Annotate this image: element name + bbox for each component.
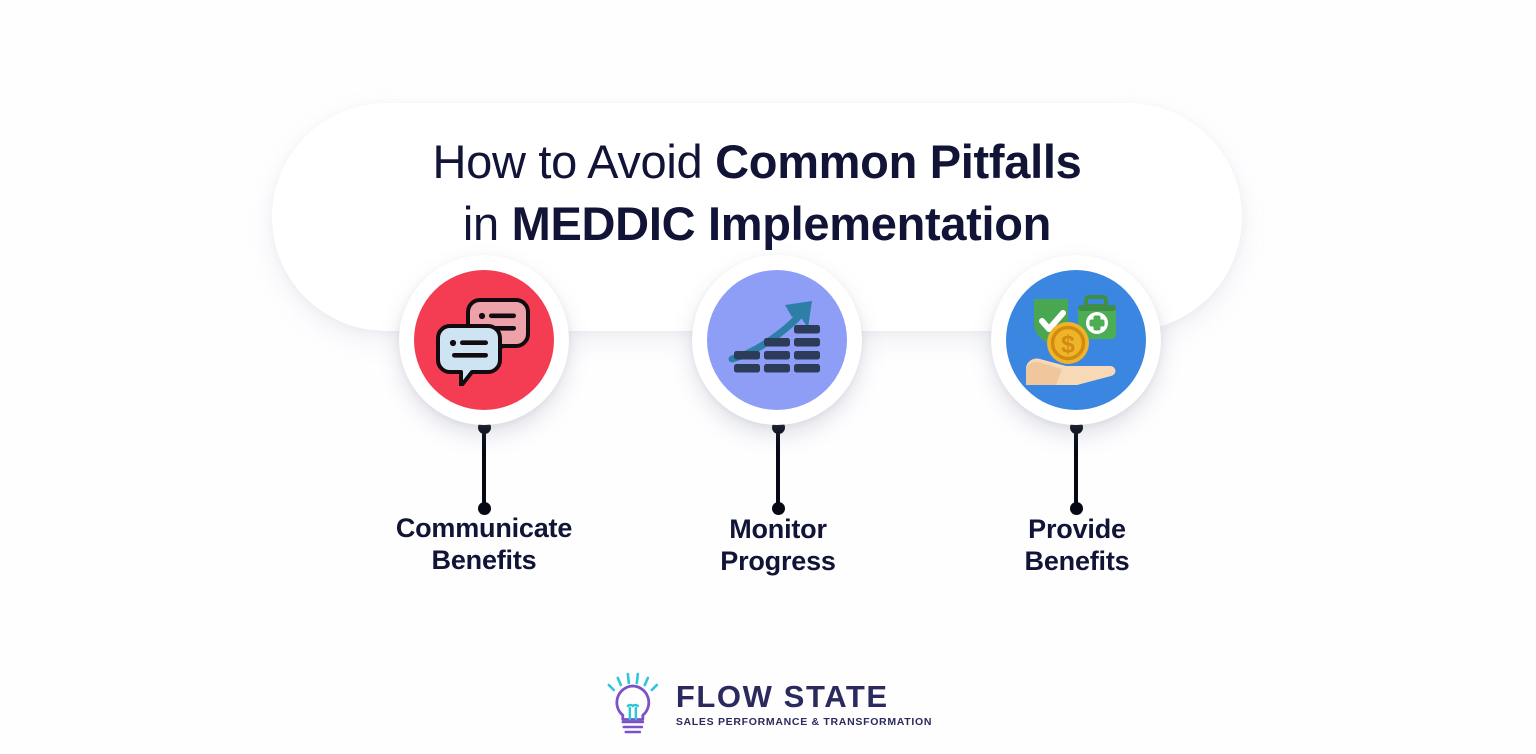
label-line-1: Provide: [937, 513, 1217, 545]
icon-ring-monitor-progress: [692, 255, 862, 425]
title-line2: in MEDDIC Implementation: [272, 193, 1242, 255]
growth-chart-arrow-icon: [728, 295, 826, 385]
node-provide-benefits[interactable]: $: [991, 255, 1161, 425]
node-communicate-benefits[interactable]: [399, 255, 569, 425]
connector-line: [776, 432, 780, 504]
connector-line: [1074, 432, 1078, 504]
title-line2-bold: MEDDIC Implementation: [512, 197, 1051, 250]
label-provide-benefits: Provide Benefits: [937, 513, 1217, 577]
label-monitor-progress: Monitor Progress: [638, 513, 918, 577]
title-line1: How to Avoid Common Pitfalls: [433, 135, 1082, 188]
icon-disc-monitor-progress: [707, 270, 847, 410]
label-line-1: Communicate: [344, 512, 624, 544]
title-line1-regular: How to Avoid: [433, 135, 716, 188]
label-line-1: Monitor: [638, 513, 918, 545]
logo-name: FLOW STATE: [676, 680, 932, 714]
label-line-2: Benefits: [937, 545, 1217, 577]
brand-logo[interactable]: FLOW STATE SALES PERFORMANCE & TRANSFORM…: [604, 672, 932, 738]
label-line-2: Benefits: [344, 544, 624, 576]
icon-ring-communicate-benefits: [399, 255, 569, 425]
hand-coin-benefits-icon: $: [1024, 293, 1128, 387]
connector-line: [482, 432, 486, 504]
icon-disc-provide-benefits: $: [1006, 270, 1146, 410]
lightbulb-icon: [604, 672, 662, 738]
connector-communicate-benefits: [476, 421, 492, 515]
icon-ring-provide-benefits: $: [991, 255, 1161, 425]
title-line2-regular: in: [463, 197, 512, 250]
icon-disc-communicate-benefits: [414, 270, 554, 410]
page-title: How to Avoid Common Pitfalls in MEDDIC I…: [272, 131, 1242, 255]
svg-text:$: $: [1061, 331, 1075, 359]
node-monitor-progress[interactable]: [692, 255, 862, 425]
infographic-canvas: How to Avoid Common Pitfalls in MEDDIC I…: [0, 0, 1536, 754]
label-line-2: Progress: [638, 545, 918, 577]
speech-bubbles-icon: [436, 294, 532, 386]
logo-text-block: FLOW STATE SALES PERFORMANCE & TRANSFORM…: [676, 680, 932, 730]
logo-tagline: SALES PERFORMANCE & TRANSFORMATION: [676, 715, 932, 730]
connector-provide-benefits: [1068, 421, 1084, 515]
title-line1-bold: Common Pitfalls: [715, 135, 1081, 188]
label-communicate-benefits: Communicate Benefits: [344, 512, 624, 576]
connector-monitor-progress: [770, 421, 786, 515]
